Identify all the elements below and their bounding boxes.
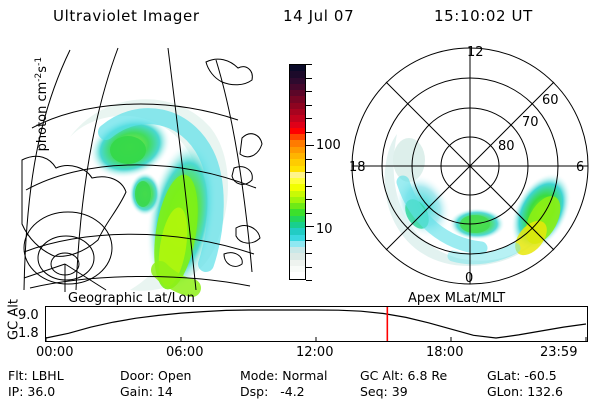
observation-time: 15:10:02 UT: [434, 7, 533, 25]
orbit-x-tick-3: 18:00: [426, 345, 463, 360]
colorbar-tick-10: [306, 199, 312, 200]
status-door-label: Door:: [120, 368, 154, 383]
status-door: Door: Open: [120, 368, 191, 383]
mlt-label-right: 6: [576, 160, 584, 175]
status-gain-value: 14: [157, 384, 173, 399]
observation-date: 14 Jul 07: [283, 7, 354, 25]
mlat-ring-label-80: 80: [498, 139, 515, 154]
auroral-emission-overlay: [70, 99, 228, 299]
colorbar-tick-label-10: 10: [316, 222, 333, 237]
left-panel-caption: Geographic Lat/Lon: [68, 291, 195, 306]
colorbar-axis-label: photon cm-2s-1: [34, 24, 50, 184]
colorbar-band-33: [290, 272, 305, 278]
status-flt-label: Flt:: [8, 368, 28, 383]
colorbar-unit-exp2: -1: [34, 57, 44, 66]
status-gain-label: Gain:: [120, 384, 153, 399]
status-dsp-label: Dsp:: [240, 384, 268, 399]
status-gain: Gain: 14: [120, 384, 173, 399]
status-mode-value: Normal: [282, 368, 327, 383]
orbit-x-tick-2: 12:00: [296, 345, 333, 360]
status-glon-label: GLon:: [487, 384, 523, 399]
orbit-x-tick-4: 23:59: [540, 345, 577, 360]
orbit-altitude-plot[interactable]: [45, 306, 588, 342]
colorbar-tick-16: [306, 280, 312, 281]
orbit-altitude-trace: [46, 307, 587, 341]
status-seq-value: 39: [392, 384, 408, 399]
mlat-ring-label-60: 60: [542, 93, 559, 108]
colorbar-unit-exp1: -2: [34, 73, 44, 82]
status-glon: GLon: 132.6: [487, 384, 563, 399]
colorbar-tick-8: [306, 172, 312, 173]
page-title: Ultraviolet Imager: [53, 7, 200, 25]
colorbar-tick-2: [306, 91, 312, 92]
status-flt-value: LBHL: [32, 368, 64, 383]
status-mode-label: Mode:: [240, 368, 278, 383]
polar-dial-plot: 12 6 0 18 60 70 80: [345, 42, 595, 294]
colorbar-unit-mid: s: [35, 66, 50, 73]
status-ip-value: 36.0: [27, 384, 55, 399]
altitude-curve: [46, 310, 586, 338]
status-seq-label: Seq:: [360, 384, 388, 399]
colorbar-tick-14: [306, 253, 312, 254]
colorbar-tick-13: [306, 240, 312, 241]
mlat-ring-label-70: 70: [522, 115, 539, 130]
colorbar-tick-0: [306, 64, 312, 65]
status-gcalt: GC Alt: 6.8 Re: [360, 368, 447, 383]
status-glat-label: GLat:: [487, 368, 520, 383]
polar-grid: [352, 48, 588, 284]
orbit-y-tick-high: 9.0: [18, 308, 39, 323]
status-mode: Mode: Normal: [240, 368, 328, 383]
colorbar-tick-1: [306, 78, 312, 79]
status-gcalt-value: 6.8 Re: [408, 368, 448, 383]
status-glon-value: 132.6: [527, 384, 563, 399]
right-panel-caption: Apex MLat/MLT: [408, 291, 505, 306]
orbit-x-tickmarks: [46, 337, 586, 341]
mlt-label-bottom: 0: [465, 271, 473, 286]
status-dsp: Dsp: -4.2: [240, 384, 305, 399]
colorbar-unit-main: photon cm: [35, 82, 50, 152]
colorbar-tick-4: [306, 118, 312, 119]
colorbar-tick-7: [306, 159, 312, 160]
status-glat-value: -60.5: [524, 368, 556, 383]
orbit-x-tick-0: 00:00: [36, 345, 73, 360]
colorbar-tick-11: [306, 213, 312, 214]
status-door-value: Open: [158, 368, 191, 383]
orbit-y-tick-low: 1.8: [18, 326, 39, 341]
colorbar-tick-6: [306, 145, 314, 146]
colorbar: [289, 64, 306, 280]
status-dsp-value: -4.2: [272, 384, 304, 399]
colorbar-tick-3: [306, 105, 312, 106]
status-seq: Seq: 39: [360, 384, 408, 399]
status-gcalt-label: GC Alt:: [360, 368, 404, 383]
mlt-label-top: 12: [467, 45, 484, 60]
colorbar-tick-15: [306, 267, 312, 268]
status-glat: GLat: -60.5: [487, 368, 557, 383]
colorbar-tick-5: [306, 132, 312, 133]
status-flt: Flt: LBHL: [8, 368, 64, 383]
colorbar-ticks: [306, 64, 314, 280]
colorbar-tick-label-100: 100: [316, 138, 341, 153]
ultraviolet-imager-window: Ultraviolet Imager 14 Jul 07 15:10:02 UT: [0, 0, 600, 400]
status-ip: IP: 36.0: [8, 384, 55, 399]
apex-mlat-mlt-panel[interactable]: 12 6 0 18 60 70 80: [345, 42, 595, 294]
colorbar-tick-12: [306, 226, 314, 227]
colorbar-tick-9: [306, 186, 312, 187]
orbit-x-tick-1: 06:00: [166, 345, 203, 360]
status-ip-label: IP:: [8, 384, 23, 399]
mlt-label-left: 18: [349, 160, 366, 175]
